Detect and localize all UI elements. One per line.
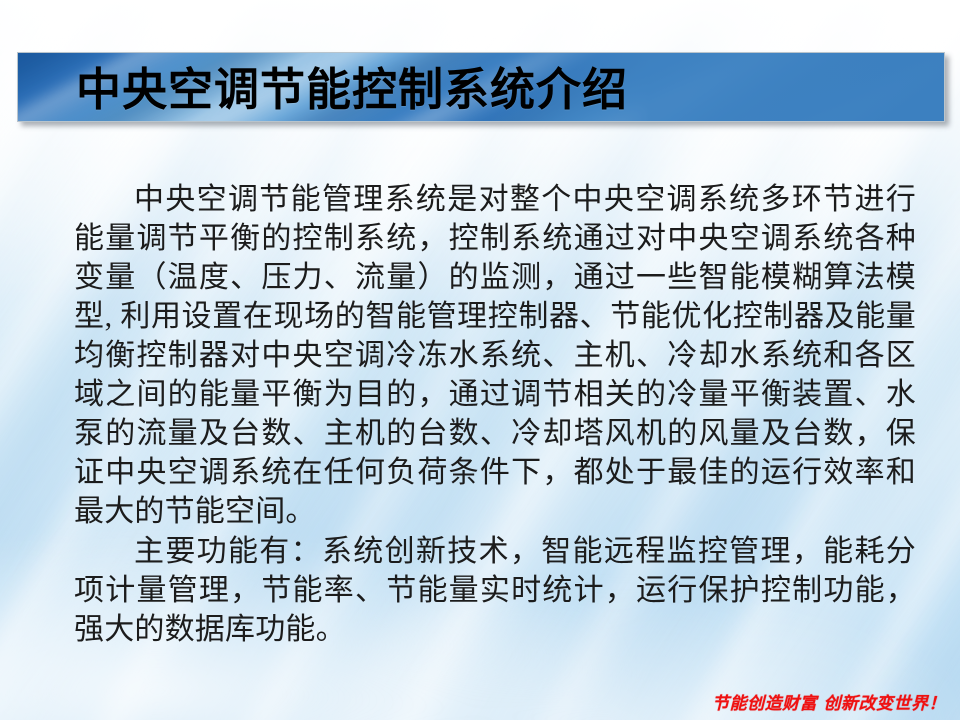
title-banner: 中央空调节能控制系统介绍 [17,52,945,122]
footer-slogan: 节能创造财富 创新改变世界！ [712,689,946,714]
slide-title: 中央空调节能控制系统介绍 [76,53,628,118]
body-paragraph-2: 主要功能有：系统创新技术，智能远程监控管理，能耗分项计量管理，节能率、节能量实时… [74,532,916,649]
slide-body: 中央空调节能管理系统是对整个中央空调系统多环节进行能量调节平衡的控制系统，控制系… [74,180,916,649]
body-paragraph-1: 中央空调节能管理系统是对整个中央空调系统多环节进行能量调节平衡的控制系统，控制系… [74,180,916,531]
slide-canvas: 中央空调节能控制系统介绍 中央空调节能管理系统是对整个中央空调系统多环节进行能量… [0,0,960,720]
